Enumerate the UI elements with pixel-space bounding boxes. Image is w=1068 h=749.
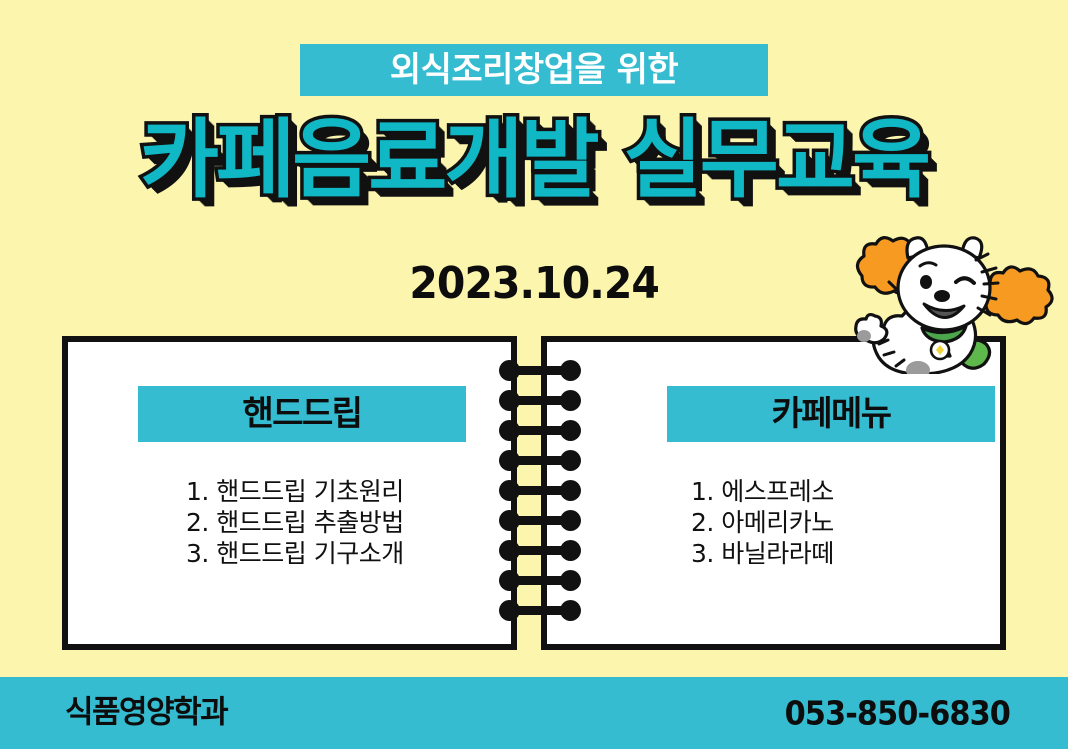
list-item: 2. 핸드드립 추출방법 [186,507,404,538]
spiral-ring [505,516,575,525]
spiral-ring [505,486,575,495]
footer-phone: 053-850-6830 [785,697,1010,730]
footer-bar: 식품영양학과 053-850-6830 [0,677,1068,749]
curriculum-list-cafemenu: 1. 에스프레소 2. 아메리카노 3. 바닐라라떼 [691,476,834,569]
footer-department: 식품영양학과 [65,698,227,729]
spiral-ring [505,366,575,375]
list-item: 1. 핸드드립 기초원리 [186,476,404,507]
spiral-ring [505,426,575,435]
spiral-ring [505,456,575,465]
list-item: 1. 에스프레소 [691,476,834,507]
notebook-page-left: 핸드드립 1. 핸드드립 기초원리 2. 핸드드립 추출방법 3. 핸드드립 기… [62,336,517,650]
list-item: 3. 바닐라라떼 [691,538,834,569]
notebook: 핸드드립 1. 핸드드립 기초원리 2. 핸드드립 추출방법 3. 핸드드립 기… [62,336,1006,650]
page-header-cafemenu: 카페메뉴 [667,386,995,442]
page-header-text: 카페메뉴 [771,397,890,431]
spiral-ring [505,576,575,585]
spiral-ring [505,396,575,405]
spiral-binding-icon [505,360,575,630]
tiger-mascot-icon [836,224,1062,374]
list-item: 3. 핸드드립 기구소개 [186,538,404,569]
spiral-ring [505,546,575,555]
page-header-handdrip: 핸드드립 [138,386,466,442]
main-title-text: 카페음료개발 실무교육 [140,117,928,203]
spiral-ring [505,606,575,615]
list-item: 2. 아메리카노 [691,507,834,538]
notebook-page-right: 카페메뉴 1. 에스프레소 2. 아메리카노 3. 바닐라라떼 [541,336,1006,650]
main-title: 카페음료개발 실무교육 [0,108,1068,212]
curriculum-list-handdrip: 1. 핸드드립 기초원리 2. 핸드드립 추출방법 3. 핸드드립 기구소개 [186,476,404,569]
poster-canvas: 외식조리창업을 위한 카페음료개발 실무교육 2023.10.24 핸드드립 1… [0,0,1068,749]
event-date-text: 2023.10.24 [409,262,659,306]
page-header-text: 핸드드립 [242,397,361,431]
subtitle-banner: 외식조리창업을 위한 [300,44,768,96]
subtitle-text: 외식조리창업을 위한 [390,53,678,87]
